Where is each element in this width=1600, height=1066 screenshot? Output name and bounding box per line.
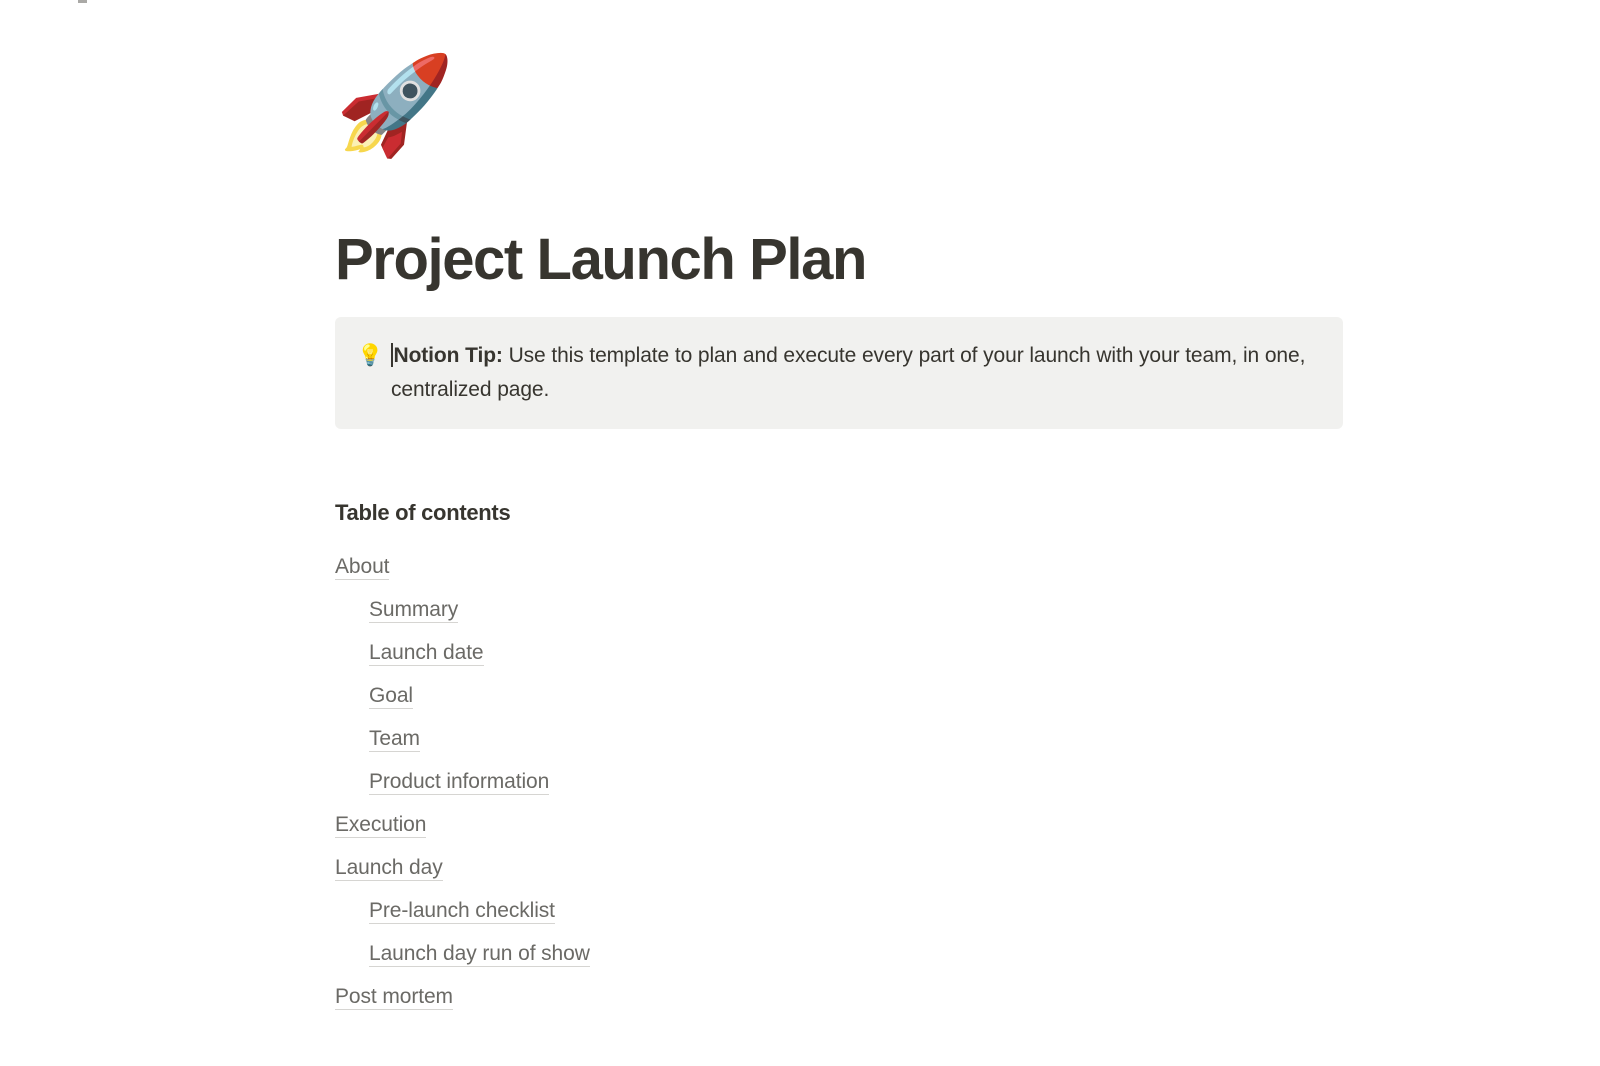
toc-item-label: Launch date [369,641,484,666]
callout-body: Use this template to plan and execute ev… [391,344,1305,401]
toc-item-label: About [335,555,389,580]
text-caret [391,343,393,367]
toc-item-label: Post mortem [335,985,453,1010]
notion-page: 🚀 Project Launch Plan 💡 Notion Tip: Use … [0,0,1600,1066]
toc-item-summary[interactable]: Summary [369,588,1345,631]
table-of-contents-heading: Table of contents [335,499,1345,528]
toc-item-goal[interactable]: Goal [369,674,1345,717]
toc-item-execution[interactable]: Execution [335,803,1345,846]
toc-item-post-mortem[interactable]: Post mortem [335,975,1345,1018]
toc-item-label: Execution [335,813,426,838]
page-content: 🚀 Project Launch Plan 💡 Notion Tip: Use … [335,0,1345,1018]
toc-item-label: Summary [369,598,458,623]
toc-item-launch-day-run-of-show[interactable]: Launch day run of show [369,932,1345,975]
toc-item-label: Goal [369,684,413,709]
rocket-emoji[interactable]: 🚀 [335,58,1345,176]
toc-item-product-information[interactable]: Product information [369,760,1345,803]
toc-item-team[interactable]: Team [369,717,1345,760]
callout-block[interactable]: 💡 Notion Tip: Use this template to plan … [335,317,1343,429]
toc-item-label: Team [369,727,420,752]
toc-item-label: Pre-launch checklist [369,899,555,924]
toc-item-about[interactable]: About [335,545,1345,588]
toc-item-label: Product information [369,770,549,795]
toc-item-pre-launch-checklist[interactable]: Pre-launch checklist [369,889,1345,932]
clipped-ui-artifact [78,0,87,3]
page-title[interactable]: Project Launch Plan [335,228,1345,292]
toc-item-launch-date[interactable]: Launch date [369,631,1345,674]
callout-label: Notion Tip: [394,344,503,367]
callout-text[interactable]: Notion Tip: Use this template to plan an… [391,339,1319,407]
lightbulb-icon[interactable]: 💡 [357,339,391,373]
toc-item-label: Launch day [335,856,443,881]
toc-item-label: Launch day run of show [369,942,590,967]
table-of-contents: About Summary Launch date Goal Team Prod… [335,545,1345,1018]
toc-item-launch-day[interactable]: Launch day [335,846,1345,889]
